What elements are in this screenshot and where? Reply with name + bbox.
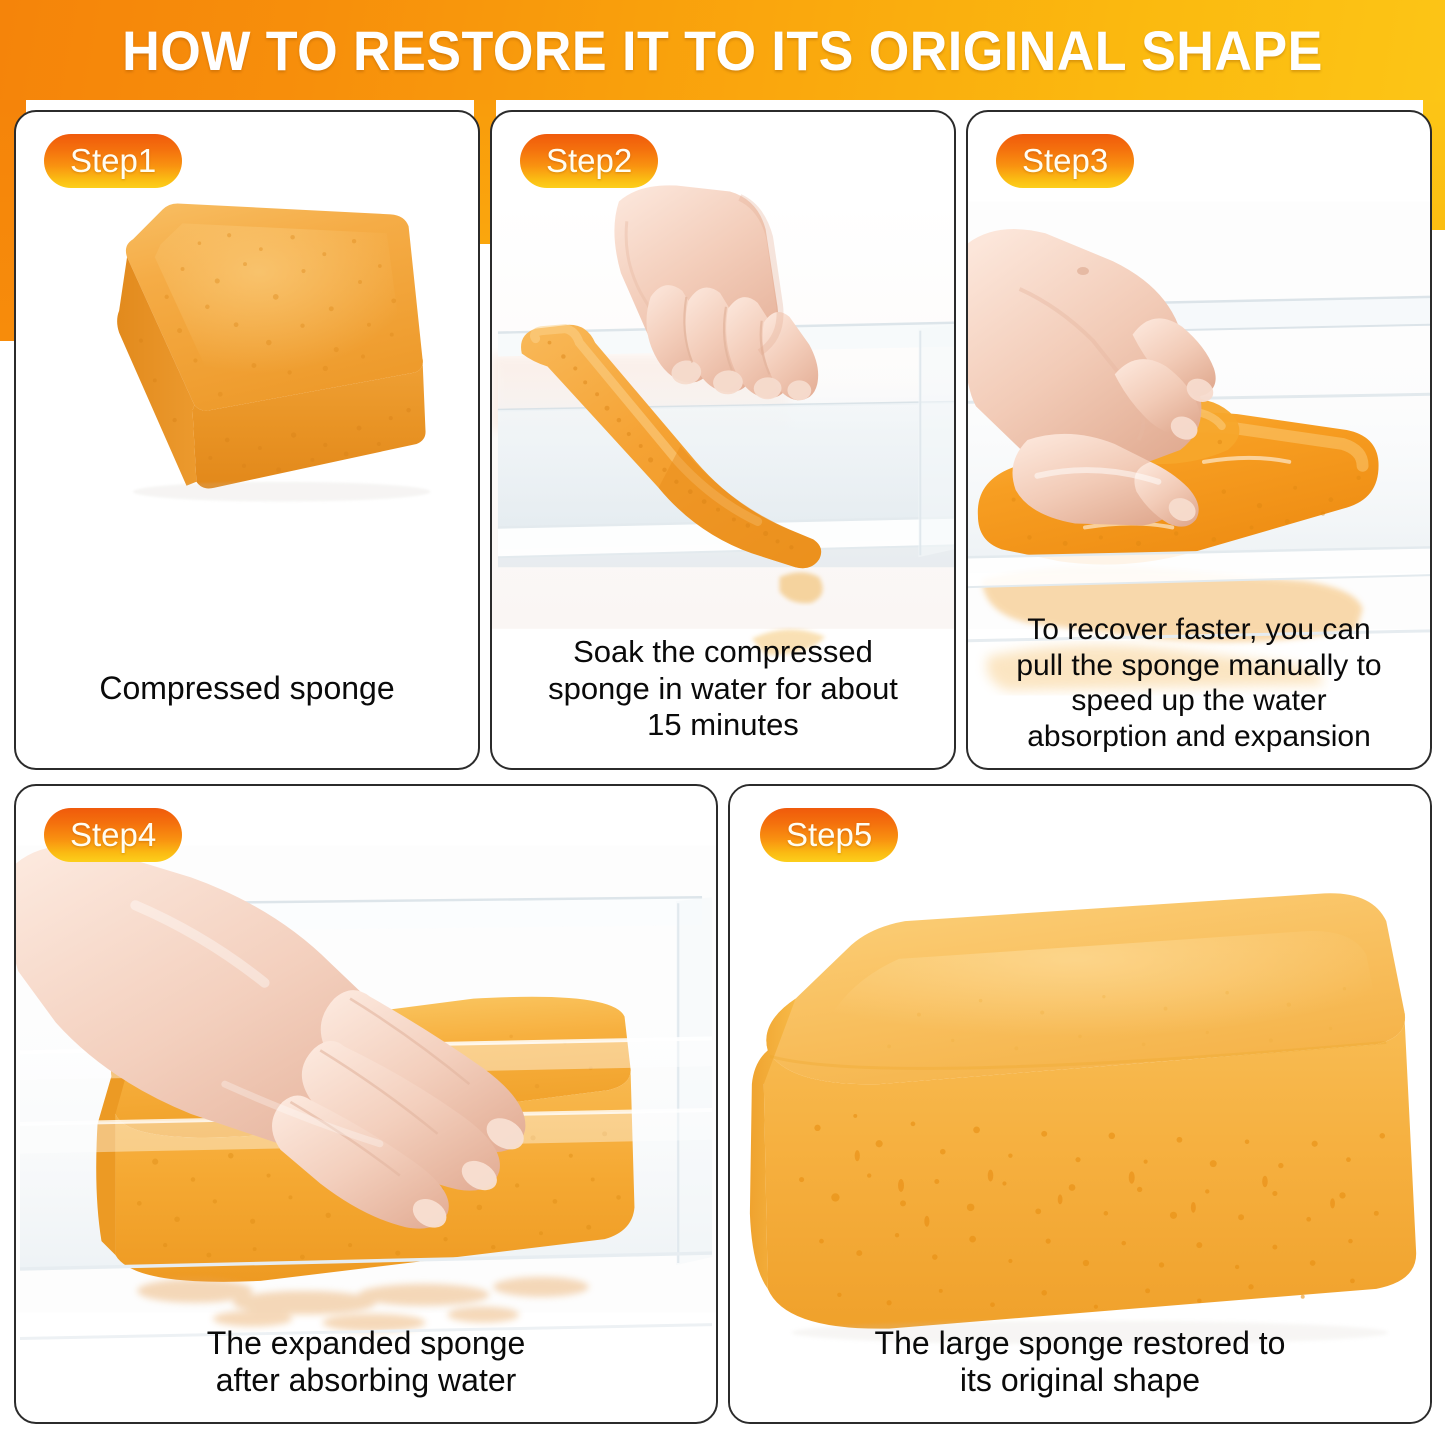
step-caption-4: The expanded sponge after absorbing wate… <box>32 1325 700 1401</box>
step-card-4: Step4 The expanded sponge after absorbin… <box>14 784 718 1424</box>
step-badge-4: Step4 <box>44 808 182 862</box>
step-card-1: Step1 Compressed sponge <box>14 110 480 770</box>
step-badge-3: Step3 <box>996 134 1134 188</box>
step-card-5: Step5 The large sponge restored to its o… <box>728 784 1432 1424</box>
step-card-2: Step2 Soak the compressed sponge in wate… <box>490 110 956 770</box>
step-caption-3: To recover faster, you can pull the spon… <box>984 612 1414 754</box>
step-badge-2: Step2 <box>520 134 658 188</box>
step-caption-5: The large sponge restored to its origina… <box>746 1325 1414 1401</box>
step-badge-5: Step5 <box>760 808 898 862</box>
page-title: HOW TO RESTORE IT TO ITS ORIGINAL SHAPE <box>51 0 1395 100</box>
step-caption-2: Soak the compressed sponge in water for … <box>508 634 938 744</box>
step-card-3: Step3 To recover faster, you can pull th… <box>966 110 1432 770</box>
step-caption-1: Compressed sponge <box>32 670 462 708</box>
infographic-root: HOW TO RESTORE IT TO ITS ORIGINAL SHAPE <box>0 0 1445 1438</box>
step-badge-1: Step1 <box>44 134 182 188</box>
